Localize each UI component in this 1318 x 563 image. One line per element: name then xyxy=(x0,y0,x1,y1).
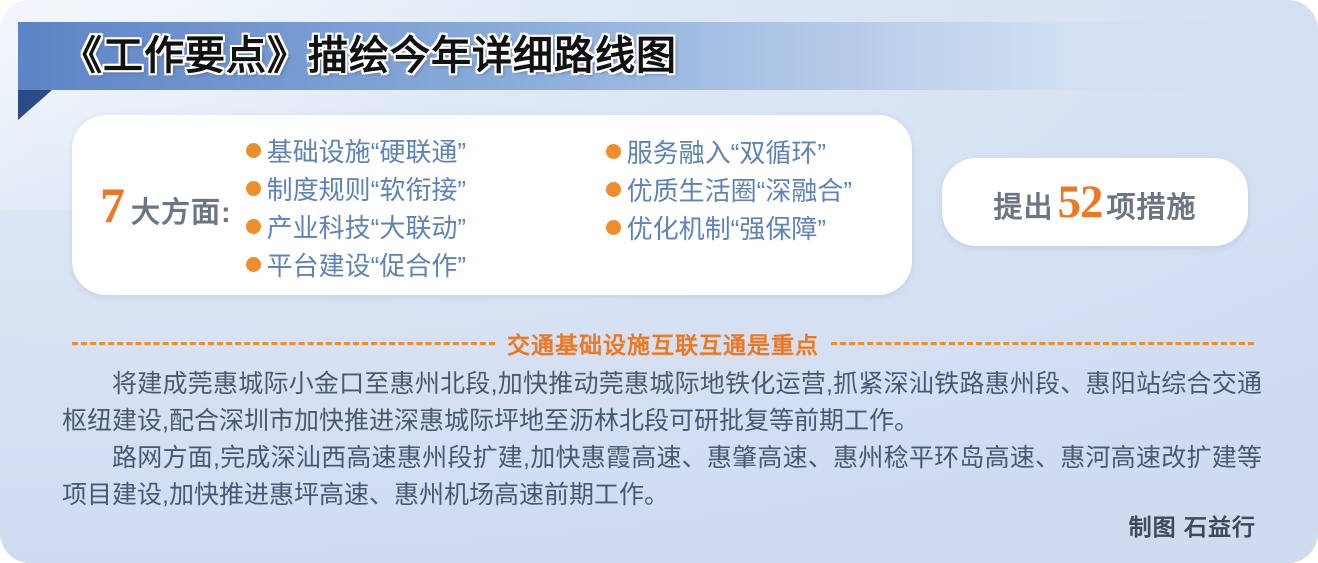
list-item-label: 基础设施“硬联通” xyxy=(267,132,466,169)
credit-line: 制图 石益行 xyxy=(1129,508,1256,542)
list-item: 平台建设“促合作” xyxy=(246,245,596,283)
aspects-column-left: 基础设施“硬联通” 制度规则“软衔接” 产业科技“大联动” 平台建设“促合作” xyxy=(246,131,596,283)
body-text: 将建成莞惠城际小金口至惠州北段,加快推动莞惠城际地铁化运营,抓紧深汕铁路惠州段、… xyxy=(62,366,1262,514)
divider-dash-left xyxy=(72,342,495,345)
body-paragraph: 将建成莞惠城际小金口至惠州北段,加快推动莞惠城际地铁化运营,抓紧深汕铁路惠州段、… xyxy=(62,366,1262,440)
list-item-label: 优化机制“强保障” xyxy=(627,209,826,246)
aspects-card: 7 大方面: 基础设施“硬联通” 制度规则“软衔接” 产业科技“大联动” xyxy=(72,115,912,295)
bullet-dot-icon xyxy=(606,220,621,235)
bullet-dot-icon xyxy=(246,181,261,196)
list-item: 基础设施“硬联通” xyxy=(246,131,596,169)
list-item-label: 服务融入“双循环” xyxy=(627,133,826,170)
section-divider: 交通基础设施互联互通是重点 xyxy=(72,328,1254,358)
aspects-label-text: 大方面: xyxy=(131,199,232,228)
section-heading: 交通基础设施互联互通是重点 xyxy=(495,326,831,360)
aspects-column-right: 服务融入“双循环” 优质生活圈“深融合” 优化机制“强保障” xyxy=(606,131,936,246)
measures-prefix: 提出 xyxy=(993,194,1053,223)
list-item-label: 制度规则“软衔接” xyxy=(267,170,466,207)
bullet-dot-icon xyxy=(246,257,261,272)
ribbon-fold-corner xyxy=(18,90,52,120)
bullet-dot-icon xyxy=(606,182,621,197)
aspects-bullet-columns: 基础设施“硬联通” 制度规则“软衔接” 产业科技“大联动” 平台建设“促合作” xyxy=(240,127,936,283)
list-item-label: 产业科技“大联动” xyxy=(267,208,466,245)
bullet-dot-icon xyxy=(246,143,261,158)
list-item: 优化机制“强保障” xyxy=(606,208,936,246)
list-item: 服务融入“双循环” xyxy=(606,132,936,170)
aspects-label: 7 大方面: xyxy=(72,180,240,230)
bullet-dot-icon xyxy=(606,144,621,159)
infographic-poster: 《工作要点》描绘今年详细路线图 7 大方面: 基础设施“硬联通” 制度规则“软衔… xyxy=(0,0,1318,563)
measures-suffix: 项措施 xyxy=(1107,194,1197,223)
list-item-label: 优质生活圈“深融合” xyxy=(627,171,852,208)
page-title: 《工作要点》描绘今年详细路线图 xyxy=(62,22,677,90)
measures-line: 提出 52 项措施 xyxy=(993,179,1196,226)
aspects-count: 7 xyxy=(100,180,124,230)
measures-card: 提出 52 项措施 xyxy=(942,158,1248,246)
title-ribbon: 《工作要点》描绘今年详细路线图 xyxy=(0,0,1318,118)
list-item: 产业科技“大联动” xyxy=(246,207,596,245)
list-item-label: 平台建设“促合作” xyxy=(267,246,466,283)
bullet-dot-icon xyxy=(246,219,261,234)
divider-dash-right xyxy=(831,342,1254,345)
list-item: 优质生活圈“深融合” xyxy=(606,170,936,208)
list-item: 制度规则“软衔接” xyxy=(246,169,596,207)
measures-count: 52 xyxy=(1058,179,1103,226)
body-paragraph: 路网方面,完成深汕西高速惠州段扩建,加快惠霞高速、惠肇高速、惠州稔平环岛高速、惠… xyxy=(62,440,1262,514)
